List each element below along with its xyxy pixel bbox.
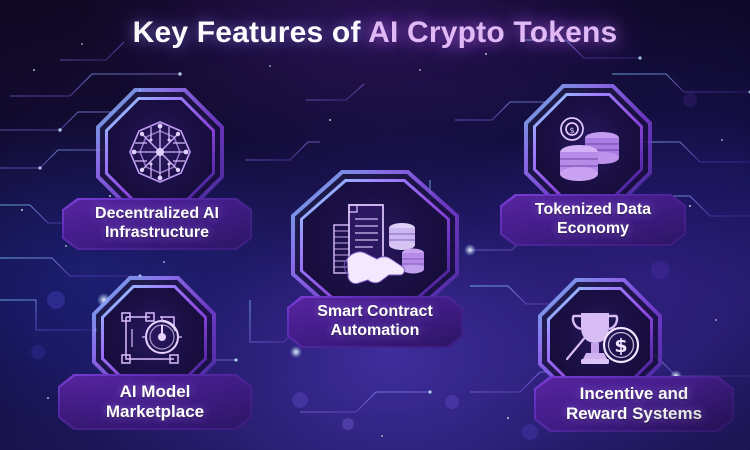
feature-label-plate[interactable]: Decentralized AI Infrastructure [62,198,252,250]
title-accent: AI Crypto Tokens [368,16,617,49]
network-nodes-icon [96,88,224,216]
svg-text:$: $ [614,335,627,357]
svg-text:$: $ [569,126,574,135]
feature-label-line2: Marketplace [106,402,204,421]
feature-label-line2: Economy [557,220,629,237]
feature-label-line2: Automation [331,322,420,339]
page-title: Key Features of AI Crypto Tokens [0,16,750,50]
feature-label-line1: Incentive and [580,384,689,403]
feature-label-line1: AI Model [120,382,191,401]
infographic-canvas: Key Features of AI Crypto Tokens [0,0,750,450]
feature-label-line1: Smart Contract [317,303,433,320]
feature-icon-octagon [96,88,224,216]
feature-icon-octagon: $ [524,84,652,212]
feature-label-plate[interactable]: Smart Contract Automation [287,296,463,348]
feature-label-plate[interactable]: Tokenized Data Economy [500,194,686,246]
coin-stack-icon: $ [524,84,652,212]
title-plain: Key Features of [133,16,369,49]
feature-label-line1: Decentralized AI [95,205,219,222]
feature-label-plate[interactable]: AI Model Marketplace [58,374,252,430]
feature-label-line2: Reward Systems [566,404,702,423]
feature-label-plate[interactable]: Incentive and Reward Systems [534,376,734,432]
feature-label-line1: Tokenized Data [535,201,651,218]
feature-label-line2: Infrastructure [105,224,209,241]
